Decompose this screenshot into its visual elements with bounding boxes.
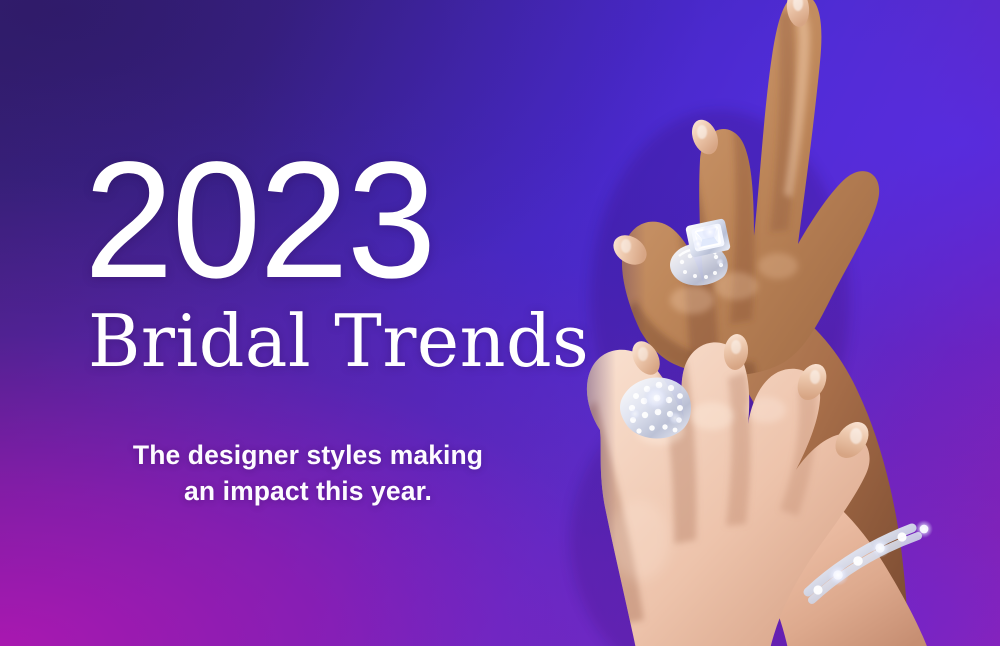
tagline: The designer styles making an impact thi… [60,437,556,509]
bridal-trends-banner: 2023 Bridal Trends The designer styles m… [0,0,1000,649]
hands-jewelry-photo [540,0,1000,649]
text-block: 2023 Bridal Trends The designer styles m… [0,0,600,649]
page-title-year: 2023 [84,138,434,304]
tagline-line-2: an impact this year. [60,473,556,509]
page-title-bridal-trends: Bridal Trends [88,305,589,377]
tagline-line-1: The designer styles making [60,437,556,473]
